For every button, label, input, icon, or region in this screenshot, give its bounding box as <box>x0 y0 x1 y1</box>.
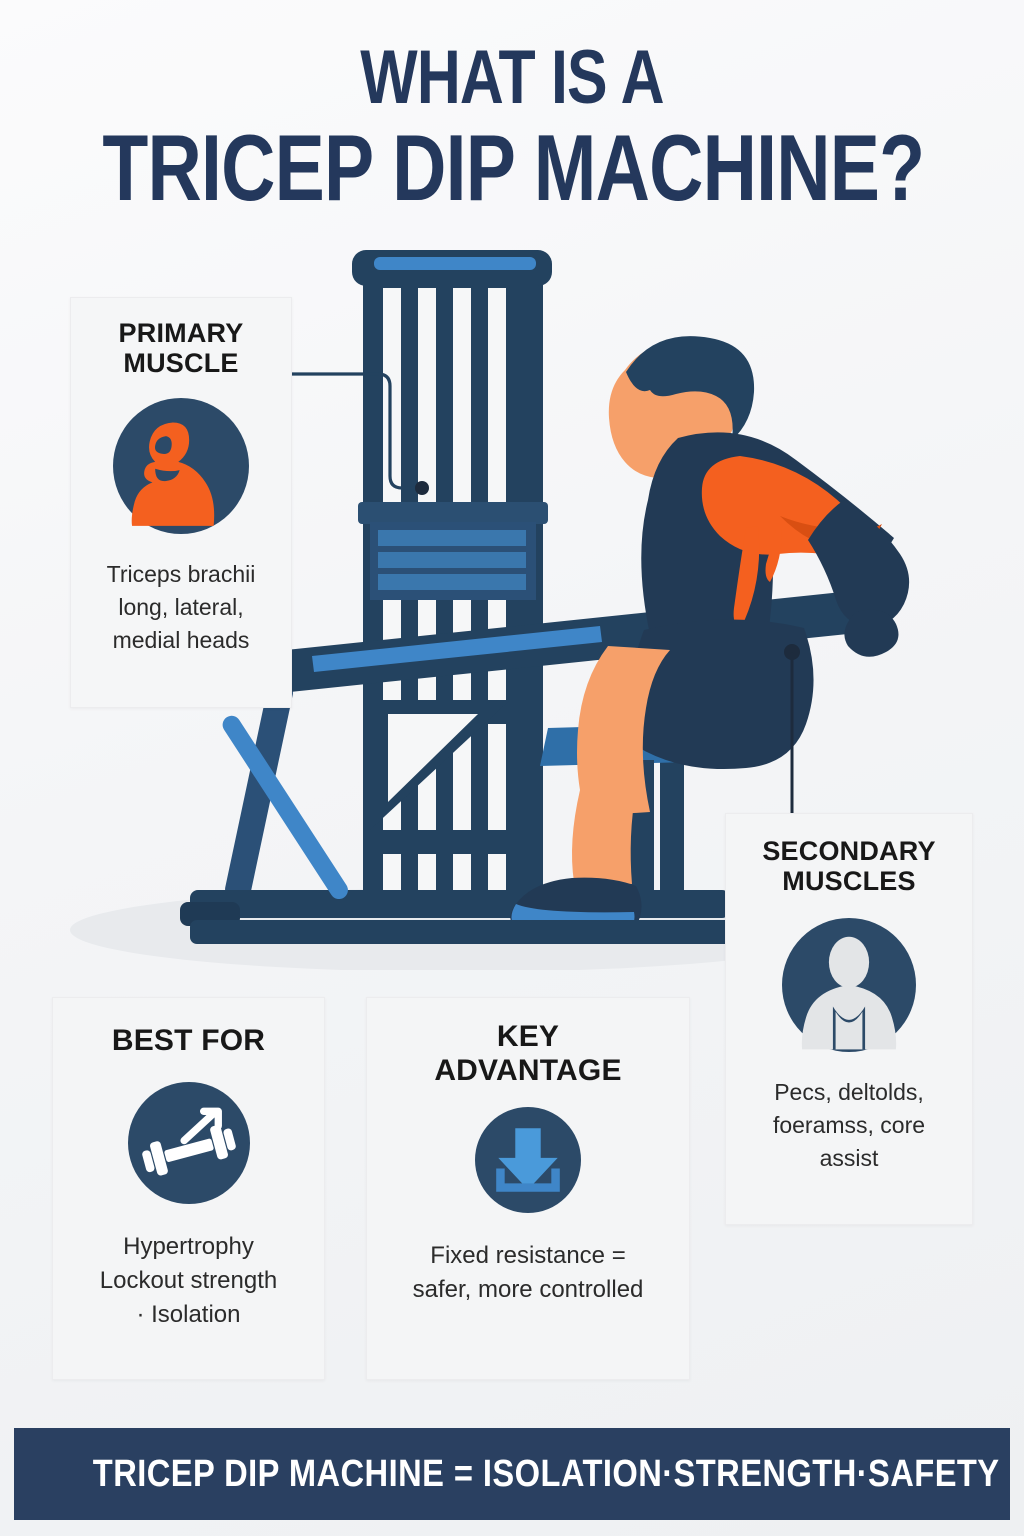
card-key-title-line-2: ADVANTAGE <box>434 1054 621 1088</box>
card-secondary-badge <box>782 918 916 1052</box>
card-key-title-line-1: KEY <box>434 1020 621 1054</box>
infographic-poster: WHAT IS A TRICEP DIP MACHINE? <box>0 0 1024 1536</box>
card-primary-title: PRIMARY MUSCLE <box>119 318 244 378</box>
card-secondary-title-line-2: MUSCLES <box>762 866 935 896</box>
dumbbell-growth-icon <box>128 1082 250 1204</box>
title-line-1: WHAT IS A <box>102 42 921 115</box>
person-hand <box>844 610 898 657</box>
card-primary-badge <box>113 398 249 534</box>
card-key-title: KEY ADVANTAGE <box>434 1020 621 1087</box>
banner-text: TRICEP DIP MACHINE = ISOLATION·STRENGTH·… <box>93 1453 1000 1496</box>
frame-top-accent <box>374 257 536 270</box>
person-shin <box>572 790 636 884</box>
card-secondary-muscles: SECONDARY MUSCLES Pecs, deltolds, foeram… <box>725 813 973 1225</box>
person-bust-icon <box>782 918 916 1052</box>
card-secondary-body-line-3: assist <box>773 1142 925 1175</box>
card-best-badge <box>128 1082 250 1204</box>
card-best-title: BEST FOR <box>112 1024 265 1058</box>
card-secondary-body-line-1: Pecs, deltolds, <box>773 1076 925 1109</box>
card-best-for: BEST FOR Hypertrophy Lockout strength · … <box>52 997 325 1380</box>
card-best-body-line-1: Hypertrophy <box>100 1230 277 1264</box>
pointing-hand-icon: 👉 <box>0 1454 1 1494</box>
card-key-body: Fixed resistance = safer, more controlle… <box>413 1239 644 1307</box>
card-primary-body-line-2: long, lateral, <box>107 591 256 624</box>
title-line-2: TRICEP DIP MACHINE? <box>102 123 921 213</box>
card-primary-muscle: PRIMARY MUSCLE Triceps brachii long, lat… <box>70 297 292 708</box>
card-best-body-line-2: Lockout strength <box>100 1264 277 1298</box>
card-key-advantage: KEY ADVANTAGE Fixed resistance = safer, … <box>366 997 690 1380</box>
download-arrow-icon <box>475 1107 581 1213</box>
page-title: WHAT IS A TRICEP DIP MACHINE? <box>0 42 1024 213</box>
card-primary-body-line-3: medial heads <box>107 624 256 657</box>
weight-stack <box>358 502 548 600</box>
card-secondary-title-line-1: SECONDARY <box>762 836 935 866</box>
card-primary-title-line-2: MUSCLE <box>119 348 244 378</box>
card-key-body-line-1: Fixed resistance = <box>413 1239 644 1273</box>
card-secondary-title: SECONDARY MUSCLES <box>762 836 935 896</box>
bottom-banner: 👉 TRICEP DIP MACHINE = ISOLATION·STRENGT… <box>14 1428 1010 1520</box>
machine-front-base-bar <box>190 920 750 944</box>
torso-muscle-icon <box>113 398 249 534</box>
card-key-body-line-2: safer, more controlled <box>413 1273 644 1307</box>
card-secondary-body-line-2: foeramss, core <box>773 1109 925 1142</box>
card-best-title-line-1: BEST FOR <box>112 1024 265 1058</box>
card-primary-title-line-1: PRIMARY <box>119 318 244 348</box>
card-secondary-body: Pecs, deltolds, foeramss, core assist <box>773 1076 925 1174</box>
card-key-badge <box>475 1107 581 1213</box>
person-shorts <box>631 619 814 769</box>
card-primary-body-line-1: Triceps brachii <box>107 558 256 591</box>
card-primary-body: Triceps brachii long, lateral, medial he… <box>107 558 256 656</box>
card-best-body-line-3: · Isolation <box>100 1298 277 1332</box>
card-best-body: Hypertrophy Lockout strength · Isolation <box>100 1230 277 1332</box>
